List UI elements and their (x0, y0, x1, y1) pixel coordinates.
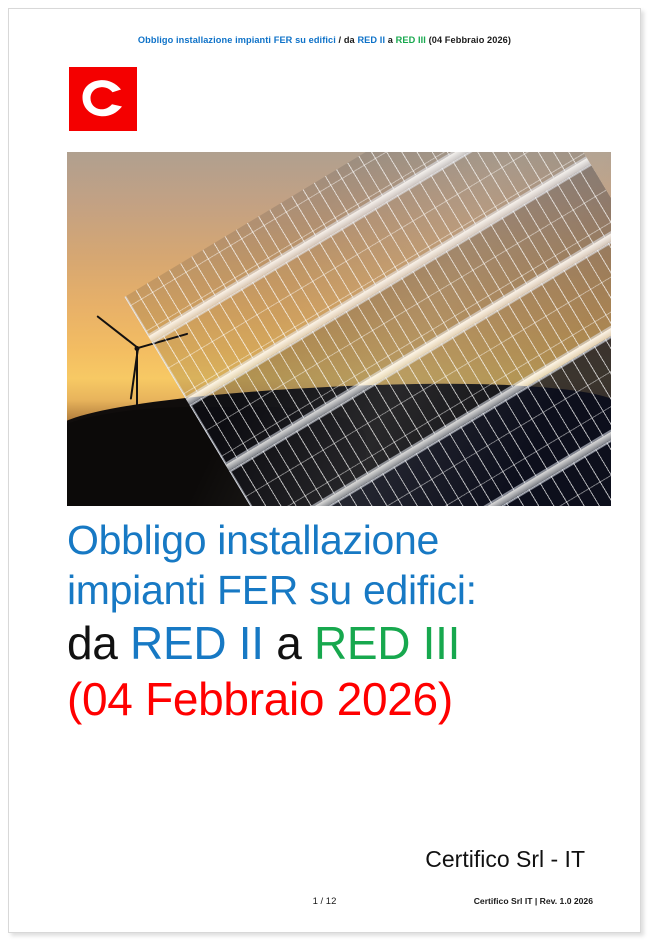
running-header: Obbligo installazione impianti FER su ed… (9, 35, 640, 45)
title-line-2: impianti FER su edifici: (67, 565, 612, 615)
title-line-4: (04 Febbraio 2026) (67, 671, 612, 727)
header-red-ii: RED II (357, 35, 385, 45)
header-separator-2: a (385, 35, 396, 45)
document-page: Obbligo installazione impianti FER su ed… (8, 8, 641, 933)
title-a: a (264, 617, 314, 669)
certifico-logo (69, 67, 137, 131)
footer-revision: Certifico Srl IT | Rev. 1.0 2026 (474, 896, 593, 906)
title-line-3: da RED II a RED III (67, 615, 612, 671)
title-red-iii: RED III (314, 617, 460, 669)
cover-image (67, 152, 611, 506)
title-line-1: Obbligo installazione (67, 515, 612, 565)
author-line: Certifico Srl - IT (425, 846, 585, 873)
header-red-iii: RED III (396, 35, 426, 45)
header-separator-1: / da (336, 35, 358, 45)
title-line-2-text: impianti FER su edifici: (67, 567, 477, 613)
header-date: (04 Febbraio 2026) (426, 35, 511, 45)
title-line-1-text: Obbligo installazione (67, 517, 439, 563)
title-date: (04 Febbraio 2026) (67, 673, 453, 725)
header-title-part: Obbligo installazione impianti FER su ed… (138, 35, 336, 45)
title-red-ii: RED II (130, 617, 264, 669)
title-da: da (67, 617, 130, 669)
cover-title: Obbligo installazione impianti FER su ed… (67, 515, 612, 727)
document-footer: 1 / 12 Certifico Srl IT | Rev. 1.0 2026 (9, 896, 640, 910)
